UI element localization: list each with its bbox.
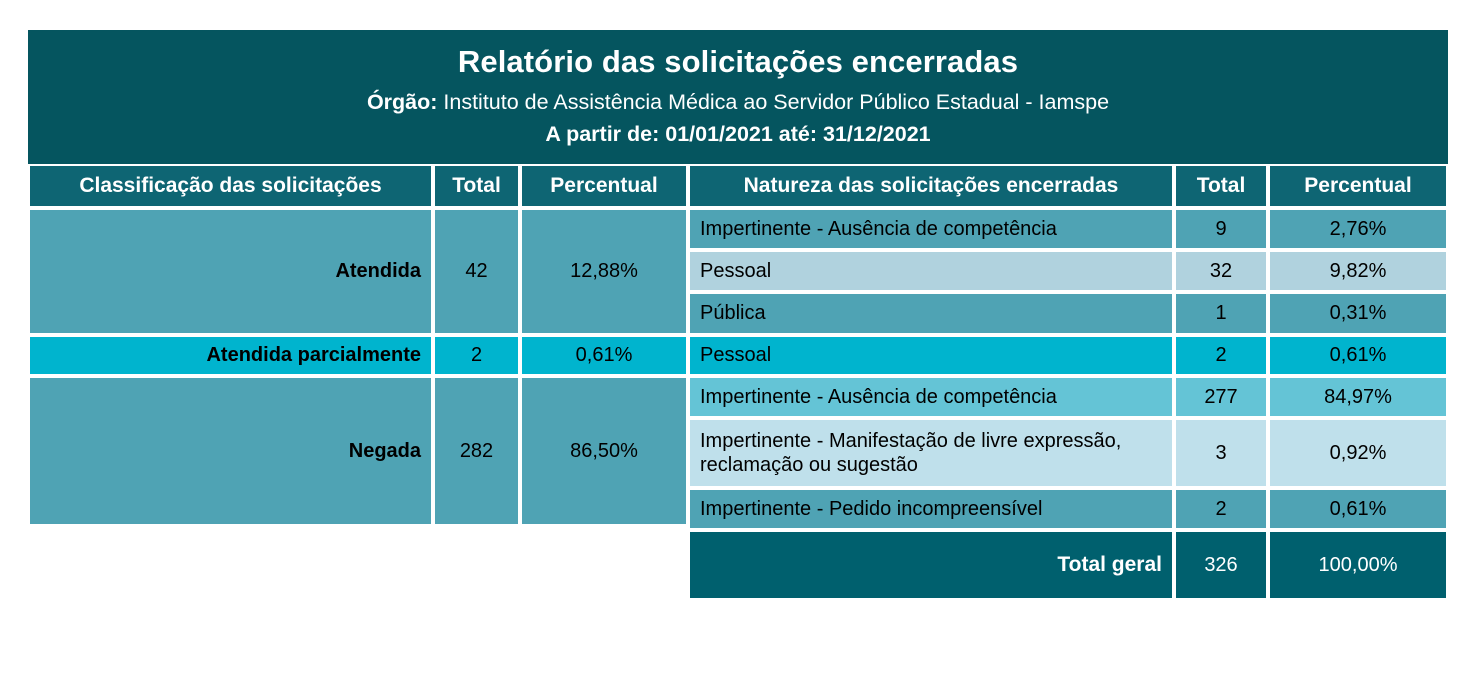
nature-percent-row-3: 0,31% bbox=[1268, 292, 1448, 335]
column-header-total-right: Total bbox=[1174, 164, 1268, 208]
nature-percent-row-6: 0,92% bbox=[1268, 418, 1448, 488]
nature-label-row-4: Pessoal bbox=[688, 335, 1174, 376]
total-geral-percent: 100,00% bbox=[1268, 530, 1448, 600]
nature-label-row-1: Impertinente - Ausência de competência bbox=[688, 208, 1174, 250]
classification-label-negada: Negada bbox=[28, 376, 433, 526]
nature-percent-row-4: 0,61% bbox=[1268, 335, 1448, 376]
nature-label-row-3: Pública bbox=[688, 292, 1174, 335]
report-table: Classificação das solicitações Total Per… bbox=[28, 164, 1448, 604]
nature-label-row-6: Impertinente - Manifestação de livre exp… bbox=[688, 418, 1174, 488]
organ-label: Órgão: bbox=[367, 90, 437, 114]
nature-label-row-7: Impertinente - Pedido incompreensível bbox=[688, 488, 1174, 530]
nature-total-row-7: 2 bbox=[1174, 488, 1268, 530]
classification-total-atendida-parcialmente: 2 bbox=[433, 335, 520, 376]
classification-label-atendida: Atendida bbox=[28, 208, 433, 335]
report-period: A partir de: 01/01/2021 até: 31/12/2021 bbox=[38, 119, 1438, 150]
nature-total-row-5: 277 bbox=[1174, 376, 1268, 418]
nature-percent-row-7: 0,61% bbox=[1268, 488, 1448, 530]
nature-total-row-3: 1 bbox=[1174, 292, 1268, 335]
nature-percent-row-2: 9,82% bbox=[1268, 250, 1448, 292]
nature-total-row-4: 2 bbox=[1174, 335, 1268, 376]
classification-label-atendida-parcialmente: Atendida parcialmente bbox=[28, 335, 433, 376]
classification-percent-negada: 86,50% bbox=[520, 376, 688, 526]
nature-label-row-2: Pessoal bbox=[688, 250, 1174, 292]
column-header-classification: Classificação das solicitações bbox=[28, 164, 433, 208]
column-header-percent-left: Percentual bbox=[520, 164, 688, 208]
classification-percent-atendida-parcialmente: 0,61% bbox=[520, 335, 688, 376]
classification-total-atendida: 42 bbox=[433, 208, 520, 335]
total-geral-total: 326 bbox=[1174, 530, 1268, 600]
report-header-banner: Relatório das solicitações encerradas Ór… bbox=[28, 30, 1448, 164]
total-geral-label: Total geral bbox=[688, 530, 1174, 600]
report-container: Relatório das solicitações encerradas Ór… bbox=[28, 30, 1448, 604]
classification-percent-atendida: 12,88% bbox=[520, 208, 688, 335]
nature-total-row-1: 9 bbox=[1174, 208, 1268, 250]
nature-label-row-5: Impertinente - Ausência de competência bbox=[688, 376, 1174, 418]
report-title: Relatório das solicitações encerradas bbox=[38, 44, 1438, 81]
column-header-percent-right: Percentual bbox=[1268, 164, 1448, 208]
column-header-nature: Natureza das solicitações encerradas bbox=[688, 164, 1174, 208]
nature-total-row-2: 32 bbox=[1174, 250, 1268, 292]
nature-total-row-6: 3 bbox=[1174, 418, 1268, 488]
nature-percent-row-5: 84,97% bbox=[1268, 376, 1448, 418]
column-header-total-left: Total bbox=[433, 164, 520, 208]
nature-percent-row-1: 2,76% bbox=[1268, 208, 1448, 250]
classification-total-negada: 282 bbox=[433, 376, 520, 526]
report-organ-line: Órgão: Instituto de Assistência Médica a… bbox=[38, 87, 1438, 118]
organ-value: Instituto de Assistência Médica ao Servi… bbox=[437, 90, 1109, 114]
